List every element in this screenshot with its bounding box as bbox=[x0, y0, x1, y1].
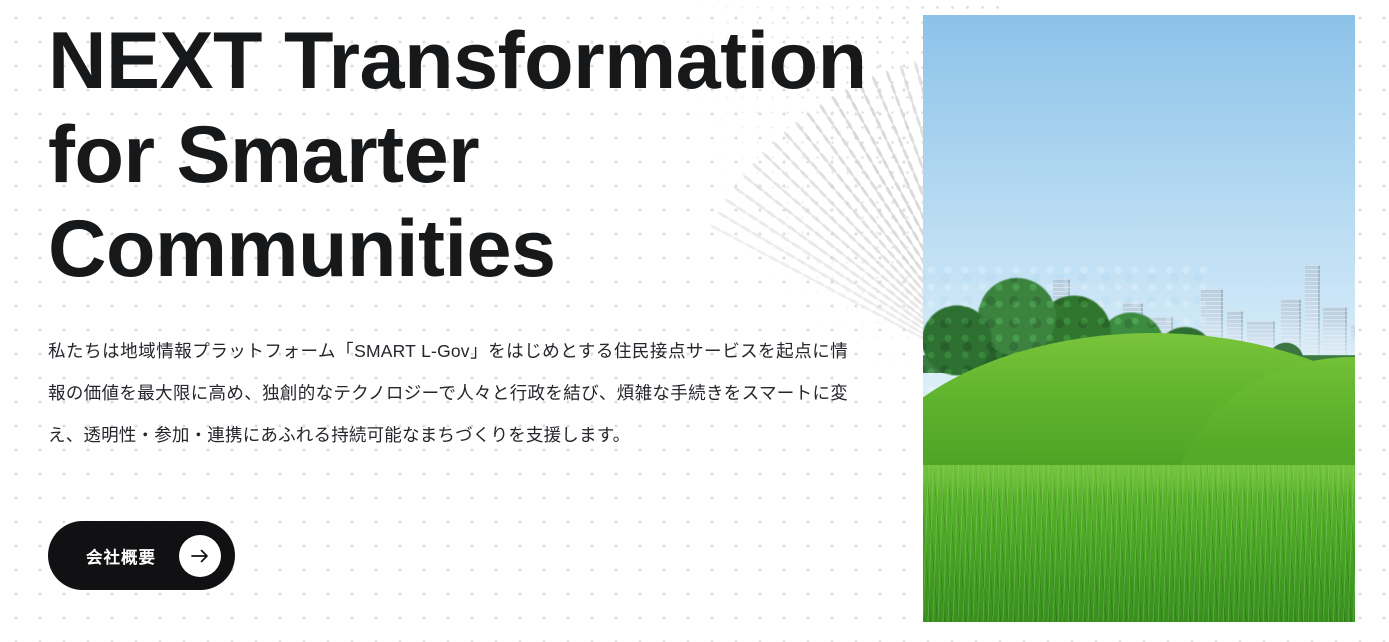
company-overview-button[interactable]: 会社概要 bbox=[48, 521, 235, 590]
page-title: NEXT Transformation for Smarter Communit… bbox=[48, 14, 928, 296]
hero-image bbox=[923, 15, 1355, 622]
company-overview-button-label: 会社概要 bbox=[86, 544, 156, 568]
hero-description: 私たちは地域情報プラットフォーム「SMART L-Gov」をはじめとする住民接点… bbox=[48, 330, 848, 456]
grass-field bbox=[923, 465, 1355, 622]
arrow-right-icon bbox=[179, 535, 221, 577]
hero-content: NEXT Transformation for Smarter Communit… bbox=[48, 0, 908, 642]
hero-section: NEXT Transformation for Smarter Communit… bbox=[0, 0, 1389, 642]
